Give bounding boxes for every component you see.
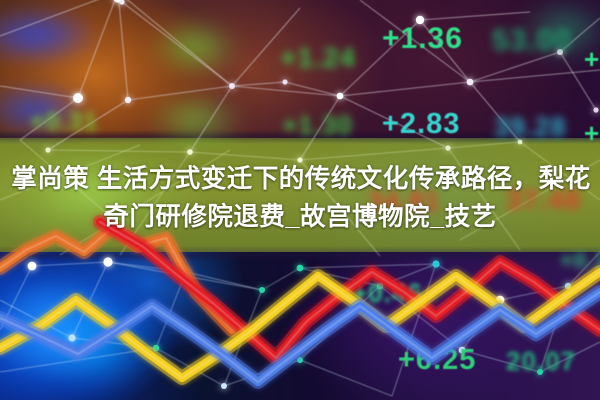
headline-line-1: 掌尚策 生活方式变迁下的传统文化传承路径，梨花 [9,160,591,198]
illustration-canvas: +1.36+2.83+6.25+0.4653.0039.28+1.24+1.30… [0,0,600,400]
mesh-links-bottom [0,252,600,396]
headline-overlay: 掌尚策 生活方式变迁下的传统文化传承路径，梨花 奇门研修院退费_故宫博物院_技艺 [0,142,600,254]
mesh-links-top [0,0,600,160]
headline-line-2: 奇门研修院退费_故宫博物院_技艺 [103,198,496,236]
